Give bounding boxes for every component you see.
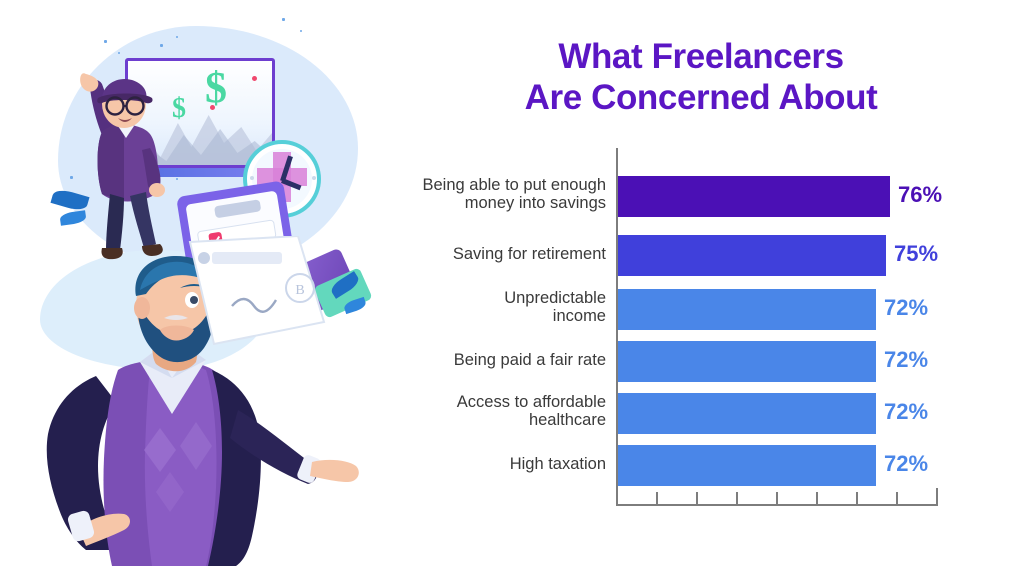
x-axis-tick xyxy=(816,492,818,504)
dollar-sign-icon: $ xyxy=(205,62,227,113)
bar-category-label: Access to affordable healthcare xyxy=(378,393,606,430)
bar-category-label: High taxation xyxy=(378,455,606,473)
title-line-1: What Freelancers xyxy=(378,36,1024,77)
illustration-panel: $ $ xyxy=(0,0,390,568)
signed-document-icon: B xyxy=(178,236,338,356)
x-axis-tick xyxy=(736,492,738,504)
clock-pip xyxy=(250,176,254,180)
sparkle-dot xyxy=(300,30,302,32)
title-line-2: Are Concerned About xyxy=(378,77,1024,118)
peak-marker-dot xyxy=(252,76,257,81)
bar-category-label: Being able to put enough money into savi… xyxy=(378,176,606,213)
bar-value-label: 72% xyxy=(884,451,928,477)
x-axis-tick-end xyxy=(936,488,938,504)
bar-category-label: Saving for retirement xyxy=(378,245,606,263)
bar-rect xyxy=(618,341,876,382)
bar-rect xyxy=(618,393,876,434)
clock-pip xyxy=(312,176,316,180)
svg-text:B: B xyxy=(295,283,304,298)
bar-category-label: Being paid a fair rate xyxy=(378,351,606,369)
sparkle-dot xyxy=(160,44,163,47)
bar-rect xyxy=(618,235,886,276)
page-title: What Freelancers Are Concerned About xyxy=(378,36,1024,119)
sparkle-dot xyxy=(282,18,285,21)
sparkle-dot xyxy=(118,52,120,54)
peak-marker-dot xyxy=(210,105,215,110)
x-axis-tick xyxy=(776,492,778,504)
sparkle-dot xyxy=(176,36,178,38)
x-axis-tick xyxy=(656,492,658,504)
bar-rect xyxy=(618,445,876,486)
bar-category-label: Unpredictable income xyxy=(378,289,606,326)
bar-value-label: 72% xyxy=(884,399,928,425)
x-axis-line xyxy=(616,504,938,506)
waving-elderly-man-icon xyxy=(62,58,192,270)
bar-value-label: 75% xyxy=(894,241,938,267)
bar-chart: Being able to put enough money into savi… xyxy=(378,148,1024,518)
x-axis-tick xyxy=(896,492,898,504)
chart-panel: What Freelancers Are Concerned About Bei… xyxy=(378,0,1024,568)
bar-rect xyxy=(618,176,890,217)
clipboard-tab xyxy=(214,199,261,218)
x-axis-tick xyxy=(696,492,698,504)
bar-value-label: 72% xyxy=(884,347,928,373)
x-axis-tick xyxy=(856,492,858,504)
bar-rect xyxy=(618,289,876,330)
bar-value-label: 76% xyxy=(898,182,942,208)
infographic-page: $ $ xyxy=(0,0,1024,568)
bar-value-label: 72% xyxy=(884,295,928,321)
sparkle-dot xyxy=(104,40,107,43)
